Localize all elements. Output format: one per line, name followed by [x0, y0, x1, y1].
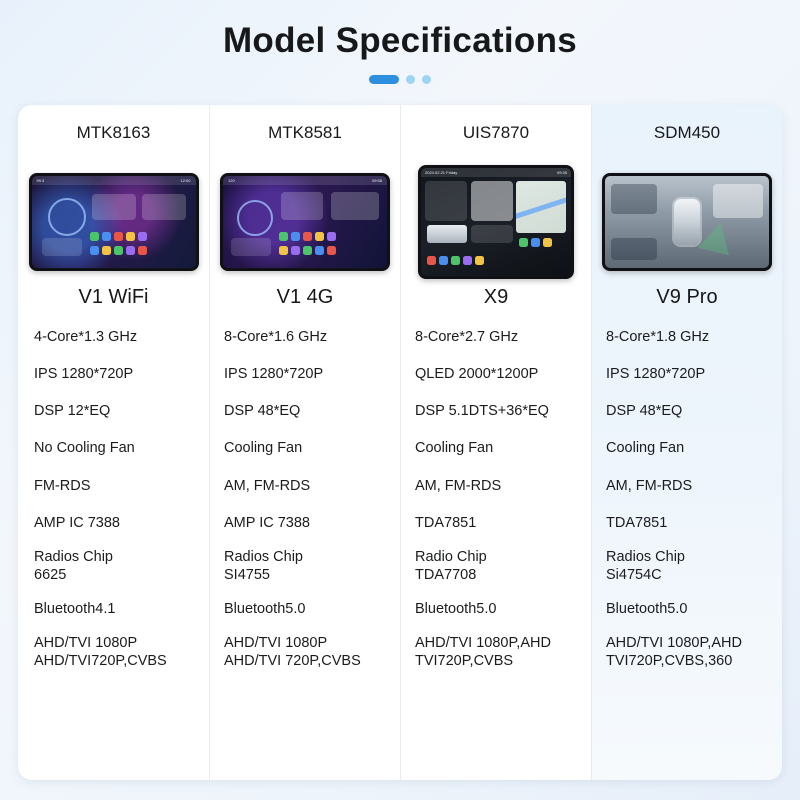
spec-cpu: 8-Core*1.8 GHz — [592, 318, 782, 355]
spec-amp: AMP IC 7388 — [18, 504, 209, 541]
spec-radio-chip-line2: TDA7708 — [415, 566, 583, 584]
spec-cooling: No Cooling Fan — [18, 429, 209, 466]
spec-camera-line2: AHD/TVI 720P,CVBS — [224, 652, 392, 670]
spec-bluetooth: Bluetooth5.0 — [592, 590, 782, 627]
spec-display: IPS 1280*720P — [210, 355, 400, 392]
spec-camera-line1: AHD/TVI 1080P,AHD — [415, 634, 583, 652]
model-name: V1 4G — [210, 286, 400, 316]
model-name: V9 Pro — [592, 286, 782, 316]
spec-column-mtk8163: MTK8163 99.312:00 — [18, 105, 209, 780]
spec-display: IPS 1280*720P — [592, 355, 782, 392]
spec-cooling: Cooling Fan — [401, 429, 591, 466]
spec-list: 4-Core*1.3 GHz IPS 1280*720P DSP 12*EQ N… — [18, 318, 209, 676]
chipset-name: MTK8581 — [210, 105, 400, 153]
device-image-v1-4g: 12009:58 — [210, 159, 400, 284]
spec-radio-band: AM, FM-RDS — [592, 467, 782, 504]
chipset-name: MTK8163 — [18, 105, 209, 153]
spec-camera-line2: AHD/TVI720P,CVBS — [34, 652, 201, 670]
spec-radio-chip-line1: Radio Chip — [415, 548, 583, 566]
spec-radio-band: AM, FM-RDS — [401, 467, 591, 504]
spec-radio-chip: Radio Chip TDA7708 — [401, 541, 591, 590]
spec-dsp: DSP 5.1DTS+36*EQ — [401, 392, 591, 429]
spec-camera-line1: AHD/TVI 1080P — [34, 634, 201, 652]
pagination-dot-2[interactable] — [406, 75, 415, 84]
spec-camera-input: AHD/TVI 1080P,AHD TVI720P,CVBS — [401, 627, 591, 676]
chipset-name: SDM450 — [592, 105, 782, 153]
spec-bluetooth: Bluetooth4.1 — [18, 590, 209, 627]
spec-display: QLED 2000*1200P — [401, 355, 591, 392]
spec-camera-line1: AHD/TVI 1080P — [224, 634, 392, 652]
chipset-name: UIS7870 — [401, 105, 591, 153]
spec-radio-chip-line1: Radios Chip — [34, 548, 201, 566]
spec-list: 8-Core*1.8 GHz IPS 1280*720P DSP 48*EQ C… — [592, 318, 782, 676]
spec-cooling: Cooling Fan — [592, 429, 782, 466]
spec-column-mtk8581: MTK8581 12009:58 — [209, 105, 400, 780]
spec-radio-chip-line1: Radios Chip — [224, 548, 392, 566]
spec-camera-input: AHD/TVI 1080P AHD/TVI720P,CVBS — [18, 627, 209, 676]
device-image-v9-pro — [592, 159, 782, 284]
spec-cpu: 8-Core*1.6 GHz — [210, 318, 400, 355]
spec-list: 8-Core*2.7 GHz QLED 2000*1200P DSP 5.1DT… — [401, 318, 591, 676]
spec-sheet-page: Model Specifications MTK8163 99.312:00 — [0, 0, 800, 800]
spec-camera-input: AHD/TVI 1080P AHD/TVI 720P,CVBS — [210, 627, 400, 676]
head-unit-screen-icon: 2024.02.21 Friday09:35 — [418, 165, 574, 279]
pagination-dot-active[interactable] — [369, 75, 399, 84]
top-view-car-icon — [674, 199, 700, 245]
spec-dsp: DSP 48*EQ — [592, 392, 782, 429]
spec-dsp: DSP 48*EQ — [210, 392, 400, 429]
model-name: X9 — [401, 286, 591, 316]
spec-column-uis7870: UIS7870 2024.02.21 Friday09:35 — [400, 105, 591, 780]
spec-amp: AMP IC 7388 — [210, 504, 400, 541]
spec-bluetooth: Bluetooth5.0 — [210, 590, 400, 627]
spec-comparison-table: MTK8163 99.312:00 — [18, 105, 782, 780]
spec-radio-chip: Radios Chip 6625 — [18, 541, 209, 590]
head-unit-360-camera-icon — [602, 173, 772, 271]
spec-cpu: 4-Core*1.3 GHz — [18, 318, 209, 355]
device-image-x9: 2024.02.21 Friday09:35 — [401, 159, 591, 284]
spec-camera-line1: AHD/TVI 1080P,AHD — [606, 634, 774, 652]
spec-radio-chip: Radios Chip Si4754C — [592, 541, 782, 590]
spec-radio-chip-line2: SI4755 — [224, 566, 392, 584]
spec-radio-chip-line1: Radios Chip — [606, 548, 774, 566]
spec-column-sdm450: SDM450 V9 Pro 8-Core*1.8 GHz IPS 1280*72… — [591, 105, 782, 780]
pagination-dot-3[interactable] — [422, 75, 431, 84]
carousel-pagination[interactable] — [0, 75, 800, 84]
spec-camera-input: AHD/TVI 1080P,AHD TVI720P,CVBS,360 — [592, 627, 782, 676]
spec-radio-chip: Radios Chip SI4755 — [210, 541, 400, 590]
head-unit-screen-icon: 12009:58 — [220, 173, 390, 271]
spec-list: 8-Core*1.6 GHz IPS 1280*720P DSP 48*EQ C… — [210, 318, 400, 676]
spec-amp: TDA7851 — [592, 504, 782, 541]
spec-amp: TDA7851 — [401, 504, 591, 541]
spec-camera-line2: TVI720P,CVBS — [415, 652, 583, 670]
spec-cpu: 8-Core*2.7 GHz — [401, 318, 591, 355]
spec-display: IPS 1280*720P — [18, 355, 209, 392]
head-unit-screen-icon: 99.312:00 — [29, 173, 199, 271]
spec-dsp: DSP 12*EQ — [18, 392, 209, 429]
spec-radio-chip-line2: Si4754C — [606, 566, 774, 584]
spec-cooling: Cooling Fan — [210, 429, 400, 466]
spec-radio-chip-line2: 6625 — [34, 566, 201, 584]
page-title: Model Specifications — [0, 0, 800, 61]
spec-radio-band: FM-RDS — [18, 467, 209, 504]
spec-radio-band: AM, FM-RDS — [210, 467, 400, 504]
spec-bluetooth: Bluetooth5.0 — [401, 590, 591, 627]
model-name: V1 WiFi — [18, 286, 209, 316]
device-image-v1-wifi: 99.312:00 — [18, 159, 209, 284]
spec-camera-line2: TVI720P,CVBS,360 — [606, 652, 774, 670]
